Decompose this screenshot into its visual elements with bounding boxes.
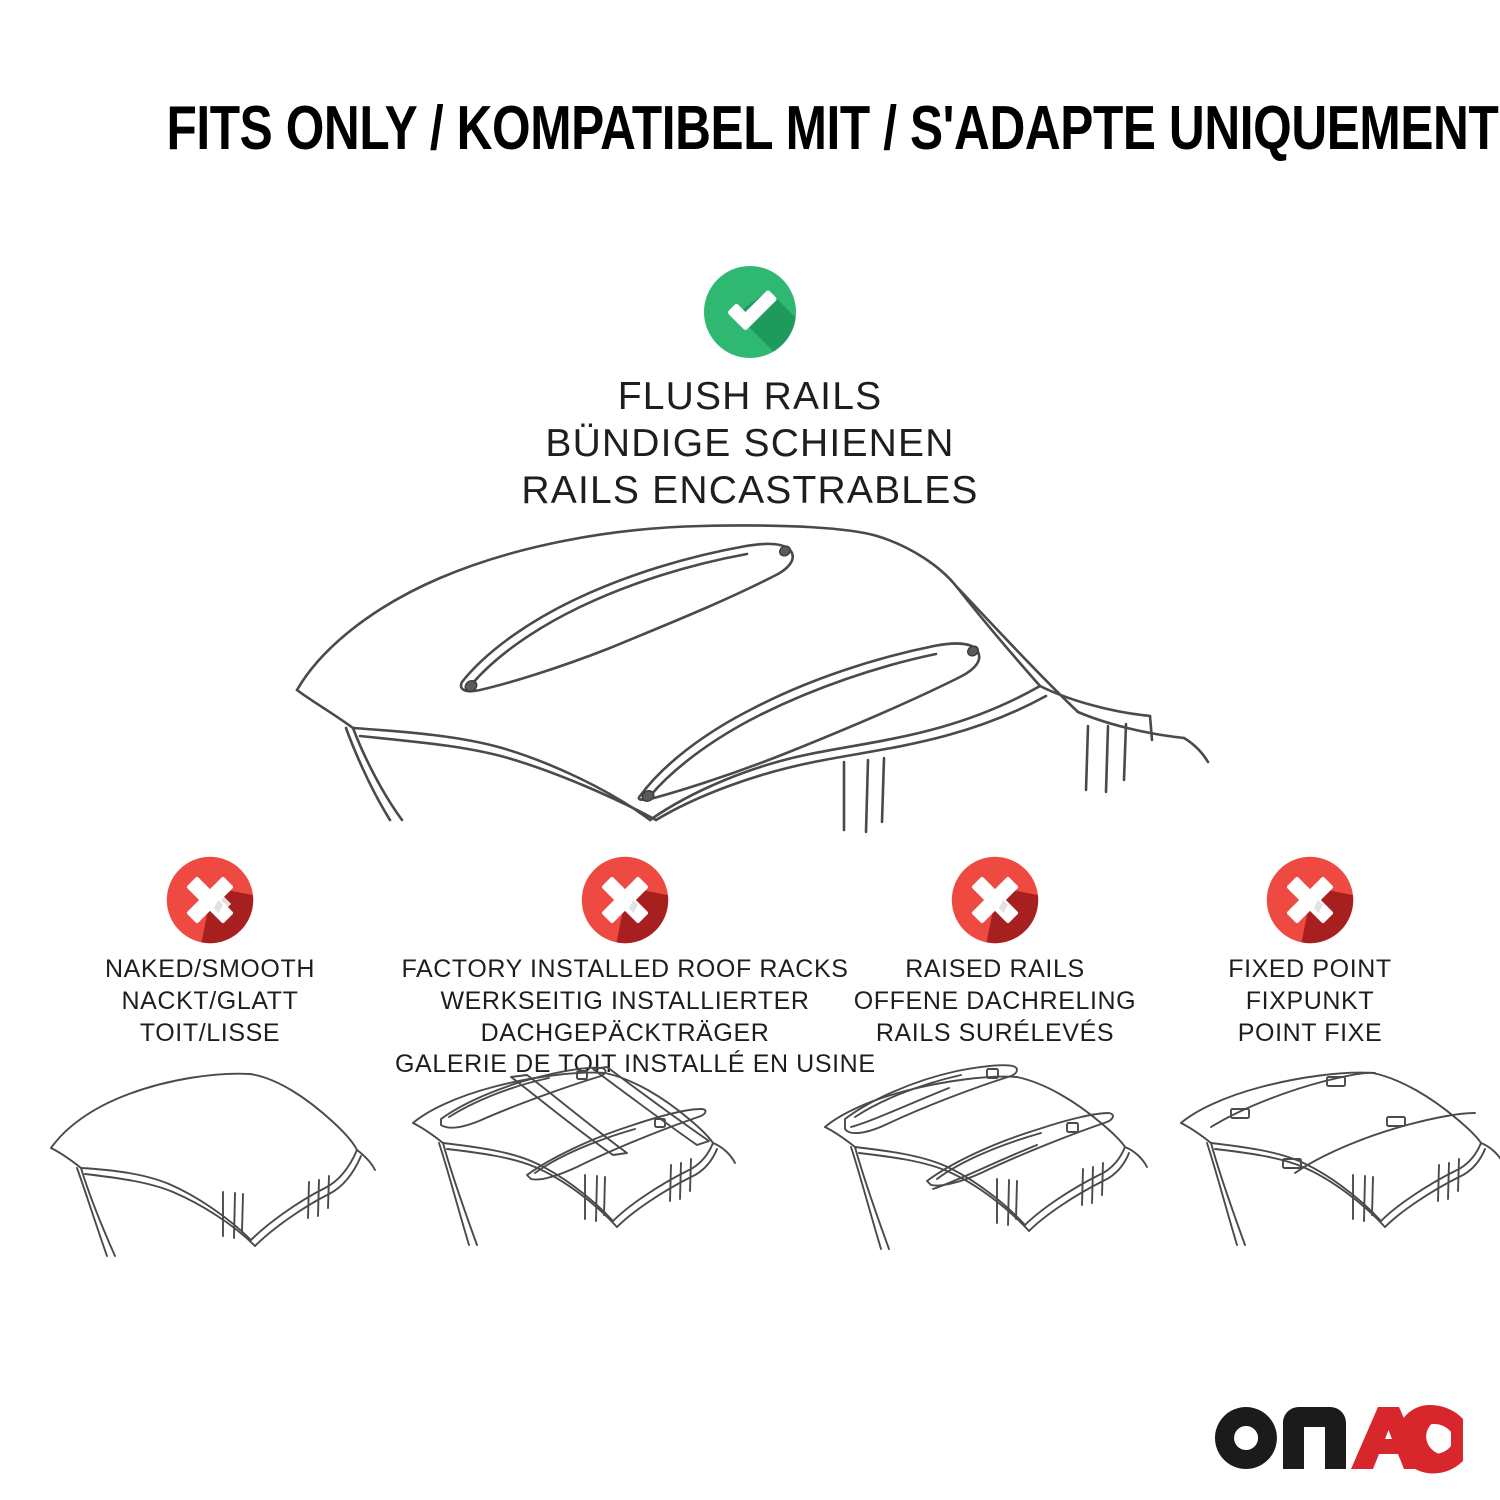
- incompatible-item-factory-installed-roof-racks: FACTORY INSTALLED ROOF RACKS WERKSEITIG …: [395, 852, 855, 1081]
- x-circle-icon: [162, 852, 258, 948]
- incompatible-item-fixed-point: FIXED POINT FIXPUNKT POINT FIXE: [1130, 852, 1490, 1049]
- label-line-de-2: DACHGEPÄCKTRÄGER: [395, 1018, 855, 1050]
- logo-letter-m: [1283, 1407, 1346, 1469]
- label-line-en: FACTORY INSTALLED ROOF RACKS: [395, 954, 855, 986]
- x-circle-icon: [1262, 852, 1358, 948]
- label-line-en: NAKED/SMOOTH: [10, 954, 410, 986]
- label-line-de: NACKT/GLATT: [10, 986, 410, 1018]
- car-roof-raised-rails-illustration: [815, 1055, 1170, 1270]
- x-circle-icon: [577, 852, 673, 948]
- label-group: FIXED POINT FIXPUNKT POINT FIXE: [1130, 954, 1490, 1049]
- car-roof-naked-illustration: [45, 1060, 385, 1275]
- page-title: FITS ONLY / KOMPATIBEL MIT / S'ADAPTE UN…: [166, 96, 1498, 161]
- omac-logo: [1213, 1405, 1463, 1475]
- car-roof-factory-racks-illustration: [405, 1055, 760, 1270]
- car-roof-flush-rails-illustration: [250, 500, 1250, 820]
- logo-letter-o: [1215, 1407, 1277, 1469]
- car-roof-fixed-point-illustration: [1175, 1055, 1500, 1270]
- label-line-fr: TOIT/LISSE: [10, 1018, 410, 1050]
- label-line-en: FIXED POINT: [1130, 954, 1490, 986]
- page-header: FITS ONLY / KOMPATIBEL MIT / S'ADAPTE UN…: [0, 96, 1500, 161]
- label-line-fr: POINT FIXE: [1130, 1018, 1490, 1050]
- x-circle-icon: [947, 852, 1043, 948]
- label-group: NAKED/SMOOTH NACKT/GLATT TOIT/LISSE: [10, 954, 410, 1049]
- compatible-section: FLUSH RAILS BÜNDIGE SCHIENEN RAILS ENCAS…: [250, 262, 1250, 514]
- compatible-label-de: BÜNDIGE SCHIENEN: [250, 421, 1250, 468]
- label-line-de-1: WERKSEITIG INSTALLIERTER: [395, 986, 855, 1018]
- check-circle-icon: [700, 262, 800, 362]
- label-line-de: FIXPUNKT: [1130, 986, 1490, 1018]
- incompatible-item-naked-smooth: NAKED/SMOOTH NACKT/GLATT TOIT/LISSE: [10, 852, 410, 1049]
- compatible-label-en: FLUSH RAILS: [250, 374, 1250, 421]
